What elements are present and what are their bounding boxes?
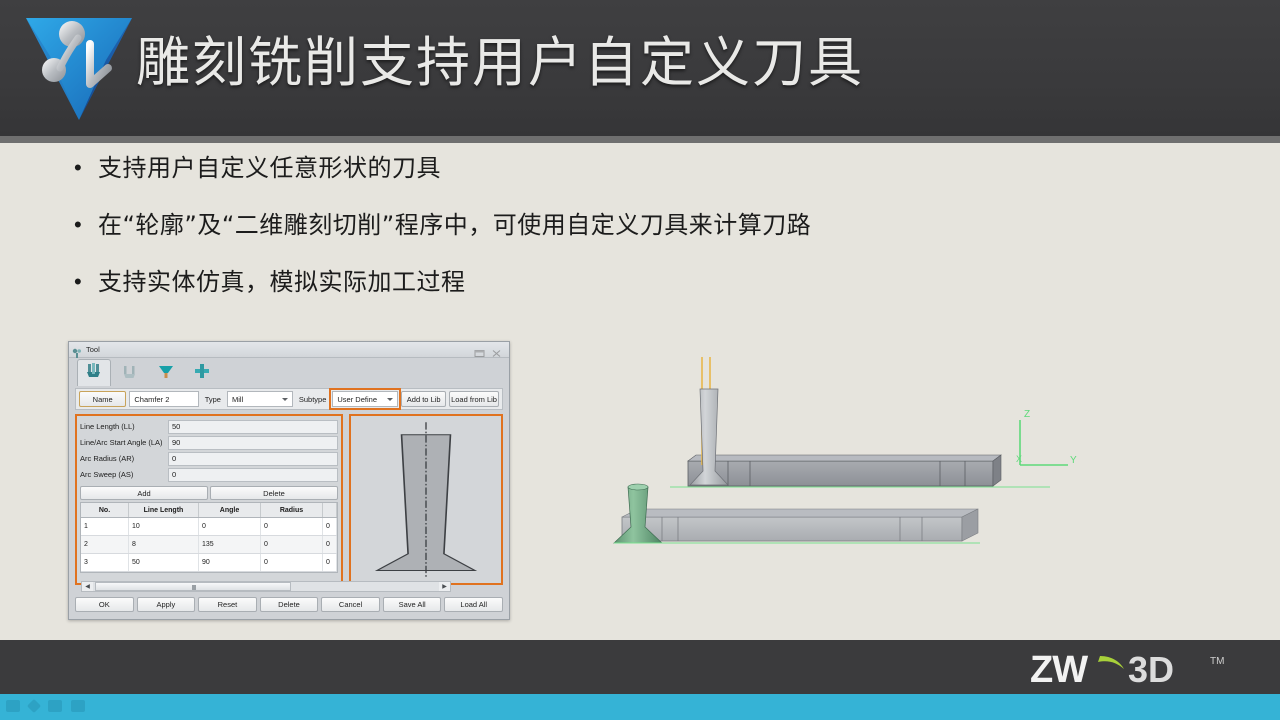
tab-special-tool[interactable] [185,361,219,386]
cell-radius: 0 [261,536,323,553]
tool-profile-preview[interactable] [349,414,503,585]
param-row[interactable]: Arc Sweep (AS) 0 [80,467,338,482]
taskbar-icon-group[interactable] [6,700,85,712]
window-icon[interactable] [48,700,62,712]
tool-identity-bar[interactable]: Name Chamfer 2 Type Mill Subtype User De… [75,388,503,410]
svg-text:3D: 3D [1128,650,1174,690]
table-row[interactable]: 3 50 90 0 0 [81,554,337,572]
cell-extra: 0 [323,518,337,535]
delete-row-button[interactable]: Delete [210,486,338,500]
bullet-marker-icon: • [62,151,98,185]
panel-icon[interactable] [71,700,85,712]
svg-text:Y: Y [1070,455,1077,466]
back-arrow-icon[interactable] [6,700,20,712]
dialog-footer[interactable]: OK Apply Reset Delete Cancel Save All Lo… [75,595,503,614]
bullet-marker-icon: • [62,208,98,242]
bullet-list: • 支持用户自定义任意形状的刀具 • 在“轮廓”及“二维雕刻切削”程序中，可使用… [62,151,1072,322]
bullet-text: 在“轮廓”及“二维雕刻切削”程序中，可使用自定义刀具来计算刀路 [98,208,811,242]
bullet-text: 支持用户自定义任意形状的刀具 [98,151,441,185]
dialog-titlebar[interactable]: Tool [69,342,509,358]
cell-angle: 0 [199,518,261,535]
column-header: Angle [199,503,261,517]
dialog-title: Tool [86,345,474,354]
bullet-marker-icon: • [62,265,98,299]
close-button[interactable] [491,345,502,354]
os-taskbar[interactable] [0,694,1280,720]
reset-button[interactable]: Reset [198,597,257,612]
column-header [323,503,337,517]
type-select[interactable]: Mill [227,391,293,407]
load-from-lib-button[interactable]: Load from Lib [449,391,499,407]
scrollbar-grip [192,585,196,590]
page-title: 雕刻铣削支持用户自定义刀具 [136,30,864,96]
upper-view-group [670,357,1050,487]
cell-no: 2 [81,536,129,553]
subtype-select[interactable]: User Define [332,391,398,407]
list-item: • 支持实体仿真，模拟实际加工过程 [62,265,1072,301]
table-row[interactable]: 2 8 135 0 0 [81,536,337,554]
minimize-button[interactable] [474,345,485,354]
svg-text:ZW: ZW [1030,650,1088,690]
tab-drill-tool[interactable] [113,361,147,386]
mill-tool-icon [84,362,104,385]
axis-triad: Z Y X [1016,409,1077,466]
cell-extra: 0 [323,554,337,571]
cell-radius: 0 [261,554,323,571]
ok-button[interactable]: OK [75,597,134,612]
slide-body: • 支持用户自定义任意形状的刀具 • 在“轮廓”及“二维雕刻切削”程序中，可使用… [0,143,1280,640]
param-label: Line/Arc Start Angle (LA) [80,438,168,447]
simulation-drawing: Z Y X [600,345,1160,595]
param-input[interactable]: 90 [168,436,338,450]
cell-angle: 135 [199,536,261,553]
cell-no: 3 [81,554,129,571]
special-tool-icon [192,363,212,386]
tool-dialog[interactable]: Tool [68,341,510,620]
tool-app-icon [72,345,82,355]
load-all-button[interactable]: Load All [444,597,503,612]
param-label: Line Length (LL) [80,422,168,431]
svg-text:Z: Z [1024,409,1030,420]
cell-radius: 0 [261,518,323,535]
param-row[interactable]: Line/Arc Start Angle (LA) 90 [80,435,338,450]
param-input[interactable]: 0 [168,452,338,466]
param-label: Arc Radius (AR) [80,454,168,463]
list-item: • 在“轮廓”及“二维雕刻切削”程序中，可使用自定义刀具来计算刀路 [62,208,1072,244]
scroll-right-arrow-icon[interactable]: ▶ [439,583,450,590]
scrollbar-track[interactable] [93,582,439,591]
scrollbar-thumb[interactable] [95,582,291,591]
column-header: No. [81,503,129,517]
zw3d-wordmark: ZW 3D TM [1028,651,1258,689]
drill-tool-icon [120,363,140,386]
apply-button[interactable]: Apply [137,597,196,612]
tool-name-input[interactable]: Chamfer 2 [129,391,198,407]
param-label: Arc Sweep (AS) [80,470,168,479]
type-label: Type [202,395,224,404]
segment-table[interactable]: No. Line Length Angle Radius 1 10 0 0 0 [80,502,338,573]
type-select-value: Mill [232,395,243,404]
dialog-tabstrip[interactable] [69,358,509,386]
param-input[interactable]: 0 [168,468,338,482]
tool-parameters-panel[interactable]: Line Length (LL) 50 Line/Arc Start Angle… [75,414,343,585]
add-row-button[interactable]: Add [80,486,208,500]
svg-text:TM: TM [1210,656,1224,667]
table-row[interactable]: 1 10 0 0 0 [81,518,337,536]
cell-line-length: 50 [129,554,199,571]
name-button[interactable]: Name [79,391,126,407]
machining-simulation-view[interactable]: Z Y X [600,345,1160,595]
cell-line-length: 10 [129,518,199,535]
delete-button[interactable]: Delete [260,597,319,612]
column-header: Line Length [129,503,199,517]
slide-header: 雕刻铣削支持用户自定义刀具 [0,0,1280,136]
row-action-bar[interactable]: Add Delete [80,486,338,500]
cell-no: 1 [81,518,129,535]
bullet-text: 支持实体仿真，模拟实际加工过程 [98,265,466,299]
pointer-icon[interactable] [27,699,41,713]
table-horizontal-scrollbar[interactable]: ◀ ▶ [81,581,451,592]
dialog-main-area: Line Length (LL) 50 Line/Arc Start Angle… [75,414,503,585]
param-row[interactable]: Line Length (LL) 50 [80,419,338,434]
column-header: Radius [261,503,323,517]
tab-mill-tool[interactable] [77,359,111,386]
table-header-row: No. Line Length Angle Radius [81,503,337,518]
add-to-lib-button[interactable]: Add to Lib [401,391,446,407]
subtype-label: Subtype [296,395,330,404]
tool-profile-drawing [351,416,501,583]
zw3d-triangle-logo [20,8,138,126]
list-item: • 支持用户自定义任意形状的刀具 [62,151,1072,187]
dialog-window-buttons[interactable] [474,345,506,354]
scroll-left-arrow-icon[interactable]: ◀ [82,583,93,590]
lower-view-group [614,484,980,543]
param-input[interactable]: 50 [168,420,338,434]
param-row[interactable]: Arc Radius (AR) 0 [80,451,338,466]
cell-extra: 0 [323,536,337,553]
header-divider [0,136,1280,143]
tab-chamfer-tool[interactable] [149,361,183,386]
chamfer-tool-icon [156,363,176,386]
cell-angle: 90 [199,554,261,571]
subtype-select-value: User Define [337,395,377,404]
save-all-button[interactable]: Save All [383,597,442,612]
chevron-down-icon [282,398,288,401]
svg-text:X: X [1016,454,1022,464]
cancel-button[interactable]: Cancel [321,597,380,612]
cell-line-length: 8 [129,536,199,553]
chevron-down-icon [387,398,393,401]
